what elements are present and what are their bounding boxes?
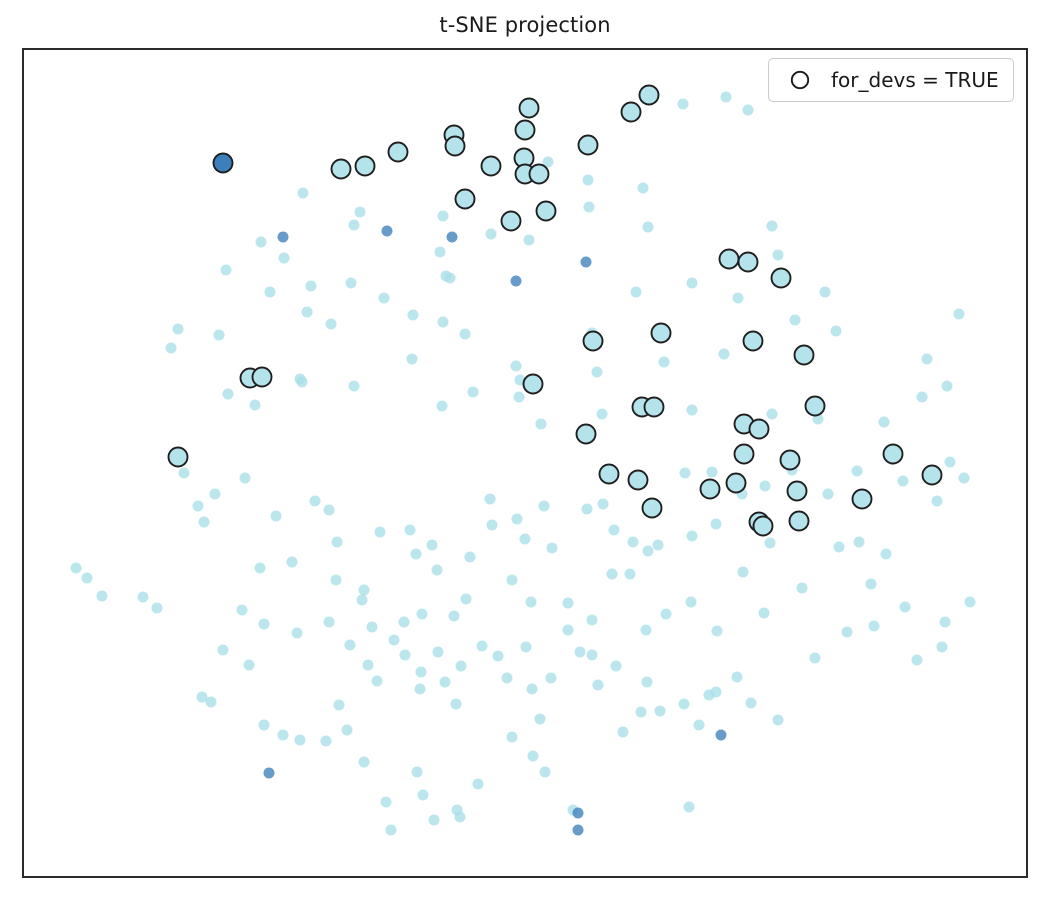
scatter-point [97,591,108,602]
scatter-point [727,474,746,493]
scatter-point [540,767,551,778]
scatter-point [372,676,383,687]
scatter-point [645,398,664,417]
scatter-point [259,619,270,630]
scatter-point [687,278,698,289]
scatter-point [169,448,188,467]
scatter-point [349,220,360,231]
scatter-point [206,697,217,708]
scatter-series [214,154,233,173]
scatter-point [210,489,221,500]
scatter-point [214,154,233,173]
scatter-point [432,565,443,576]
scatter-point [853,490,872,509]
scatter-point [324,505,335,516]
scatter-point [687,531,698,542]
scatter-point [485,494,496,505]
scatter-point [959,473,970,484]
scatter-point [598,499,609,510]
scatter-point [306,281,317,292]
scatter-point [732,672,743,683]
scatter-point [438,317,449,328]
scatter-point [389,635,400,646]
scatter-point [790,512,809,531]
scatter-point [767,221,778,232]
scatter-point [746,698,757,709]
scatter-point [345,640,356,651]
scatter-point [507,575,518,586]
scatter-point [465,552,476,563]
scatter-point [256,237,267,248]
scatter-point [440,677,451,688]
scatter-point [721,92,732,103]
scatter-point [659,357,670,368]
scatter-point [324,617,335,628]
scatter-point [720,250,739,269]
scatter-point [502,673,513,684]
scatter-point [363,660,374,671]
scatter-point [264,768,275,779]
scatter-point [255,563,266,574]
scatter-point [600,465,619,484]
scatter-point [628,537,639,548]
scatter-point [579,136,598,155]
scatter-point [359,757,370,768]
scatter-series [71,92,976,836]
scatter-point [278,730,289,741]
scatter-point [716,730,727,741]
scatter-point [609,525,620,536]
scatter-point [820,287,831,298]
scatter-point [346,278,357,289]
scatter-point [711,687,722,698]
scatter-point [940,617,951,628]
scatter-point [678,99,689,110]
scatter-point [418,790,429,801]
scatter-point [754,517,773,536]
scatter-point [584,332,603,351]
scatter-point [687,405,698,416]
scatter-point [643,222,654,233]
scatter-point [686,597,697,608]
plot-area [22,48,1028,878]
scatter-point [592,367,603,378]
scatter-point [349,381,360,392]
scatter-point [852,466,863,477]
scatter-point [854,537,865,548]
scatter-point [493,651,504,662]
scatter-point [823,489,834,500]
scatter-point [407,354,418,365]
scatter-point [359,585,370,596]
scatter-point [563,625,574,636]
scatter-point [733,293,744,304]
scatter-point [486,229,497,240]
scatter-point [922,354,933,365]
scatter-point [917,392,928,403]
scatter-point [265,287,276,298]
scatter-point [773,715,784,726]
scatter-point [250,400,261,411]
scatter-point [71,563,82,574]
scatter-point [468,387,479,398]
scatter-point [581,257,592,268]
legend-marker-circle-icon [769,69,831,91]
scatter-point [587,615,598,626]
scatter-point [618,727,629,738]
scatter-point [399,617,410,628]
scatter-point [842,627,853,638]
scatter-point [773,250,784,261]
scatter-point [435,247,446,258]
scatter-point [684,802,695,813]
scatter-point [629,471,648,490]
scatter-point [429,815,440,826]
scatter-point [655,706,666,717]
scatter-point [539,501,550,512]
scatter-point [661,609,672,620]
scatter-point [879,417,890,428]
scatter-point [456,661,467,672]
scatter-point [279,253,290,264]
scatter-point [622,103,641,122]
scatter-point [881,549,892,560]
scatter-point [547,543,558,554]
scatter-point [375,527,386,538]
scatter-point [411,549,422,560]
scatter-point [587,650,598,661]
scatter-point [743,105,754,116]
scatter-point [332,537,343,548]
scatter-point [278,232,289,243]
scatter-point [138,592,149,603]
scatter-point [461,594,472,605]
chart-title: t-SNE projection [0,13,1050,37]
scatter-point [259,720,270,731]
scatter-point [965,597,976,608]
scatter-point [653,540,664,551]
scatter-series [264,226,727,836]
scatter-point [593,680,604,691]
scatter-point [781,451,800,470]
scatter-point [417,609,428,620]
scatter-point [507,732,518,743]
scatter-point [218,645,229,656]
scatter-point [527,684,538,695]
scatter-point [520,534,531,545]
scatter-point [834,542,845,553]
scatter-point [573,808,584,819]
scatter-point [831,326,842,337]
scatter-point [537,202,556,221]
scatter-point [82,573,93,584]
scatter-point [520,99,539,118]
scatter-point [292,628,303,639]
scatter-point [625,569,636,580]
scatter-point [641,625,652,636]
scatter-point [577,425,596,444]
scatter-point [575,647,586,658]
figure-canvas: t-SNE projection for_devs = TRUE [0,0,1050,900]
scatter-point [735,445,754,464]
scatter-point [298,188,309,199]
scatter-point [400,650,411,661]
scatter-point [240,473,251,484]
scatter-point [521,642,532,653]
scatter-point [295,735,306,746]
scatter-point [223,389,234,400]
scatter-point [321,736,332,747]
scatter-point [332,160,351,179]
scatter-point [942,381,953,392]
scatter-point [179,468,190,479]
scatter-point [652,324,671,343]
scatter-plot-svg [24,50,1026,876]
scatter-point [408,310,419,321]
scatter-point [193,501,204,512]
scatter-point [573,825,584,836]
scatter-point [912,655,923,666]
scatter-point [511,276,522,287]
scatter-point [640,86,659,105]
scatter-point [643,546,654,557]
scatter-point [719,349,730,360]
scatter-point [711,519,722,530]
scatter-point [331,575,342,586]
scatter-point [898,476,909,487]
scatter-point [765,538,776,549]
scatter-point [356,157,375,176]
scatter-point [744,332,763,351]
scatter-point [767,409,778,420]
scatter-point [446,137,465,156]
scatter-point [237,605,248,616]
scatter-point [642,677,653,688]
scatter-point [342,725,353,736]
legend: for_devs = TRUE [768,58,1014,102]
scatter-point [355,207,366,218]
scatter-point [582,504,593,515]
scatter-point [447,232,458,243]
scatter-point [357,595,368,606]
scatter-series [169,86,942,536]
scatter-point [244,660,255,671]
scatter-point [884,445,903,464]
scatter-point [583,175,594,186]
scatter-point [712,626,723,637]
scatter-point [750,420,769,439]
scatter-point [866,579,877,590]
scatter-point [487,520,498,531]
scatter-point [584,202,595,213]
scatter-point [679,699,690,710]
scatter-point [511,361,522,372]
scatter-point [516,121,535,140]
scatter-point [638,183,649,194]
scatter-point [788,482,807,501]
scatter-point [367,622,378,633]
scatter-point [694,720,705,731]
scatter-point [445,273,456,284]
scatter-point [536,419,547,430]
scatter-point [152,603,163,614]
scatter-point [795,346,814,365]
scatter-point [945,457,956,468]
scatter-point [437,401,448,412]
scatter-point [797,583,808,594]
scatter-point [412,767,423,778]
scatter-point [456,190,475,209]
scatter-point [379,293,390,304]
scatter-point [302,307,313,318]
scatter-point [759,608,770,619]
scatter-point [546,673,557,684]
scatter-point [772,269,791,288]
scatter-point [173,324,184,335]
scatter-point [221,265,232,276]
scatter-point [460,329,471,340]
scatter-point [701,480,720,499]
scatter-point [214,330,225,341]
scatter-point [923,466,942,485]
scatter-point [631,287,642,298]
scatter-point [427,540,438,551]
scatter-point [643,499,662,518]
scatter-point [524,235,535,246]
scatter-point [607,569,618,580]
scatter-point [512,514,523,525]
scatter-point [514,392,525,403]
scatter-point [526,597,537,608]
scatter-point [502,212,521,231]
scatter-point [707,467,718,478]
scatter-point [482,157,501,176]
scatter-point [389,143,408,162]
scatter-point [405,525,416,536]
scatter-point [477,641,488,652]
scatter-point [806,397,825,416]
scatter-point [869,621,880,632]
scatter-point [563,598,574,609]
scatter-point [287,557,298,568]
scatter-point [386,825,397,836]
scatter-point [739,253,758,272]
scatter-point [297,377,308,388]
scatter-point [760,481,771,492]
scatter-point [738,567,749,578]
scatter-point [528,751,539,762]
legend-label-for-devs: for_devs = TRUE [831,68,999,92]
scatter-point [473,779,484,790]
scatter-point [382,226,393,237]
scatter-point [416,667,427,678]
scatter-point [524,375,543,394]
scatter-point [271,511,282,522]
scatter-point [611,661,622,672]
scatter-point [530,165,549,184]
scatter-point [326,319,337,330]
scatter-point [937,642,948,653]
scatter-point [381,797,392,808]
scatter-point [310,496,321,507]
scatter-point [954,309,965,320]
scatter-point [451,699,462,710]
scatter-point [810,653,821,664]
scatter-point [438,211,449,222]
scatter-point [449,611,460,622]
scatter-point [334,700,345,711]
scatter-point [166,343,177,354]
scatter-point [455,812,466,823]
scatter-point [433,647,444,658]
scatter-point [535,714,546,725]
scatter-point [790,315,801,326]
scatter-point [636,707,647,718]
scatter-point [415,684,426,695]
scatter-point [253,368,272,387]
scatter-point [199,517,210,528]
scatter-point [597,409,608,420]
scatter-point [932,496,943,507]
scatter-point [900,602,911,613]
scatter-point [680,468,691,479]
